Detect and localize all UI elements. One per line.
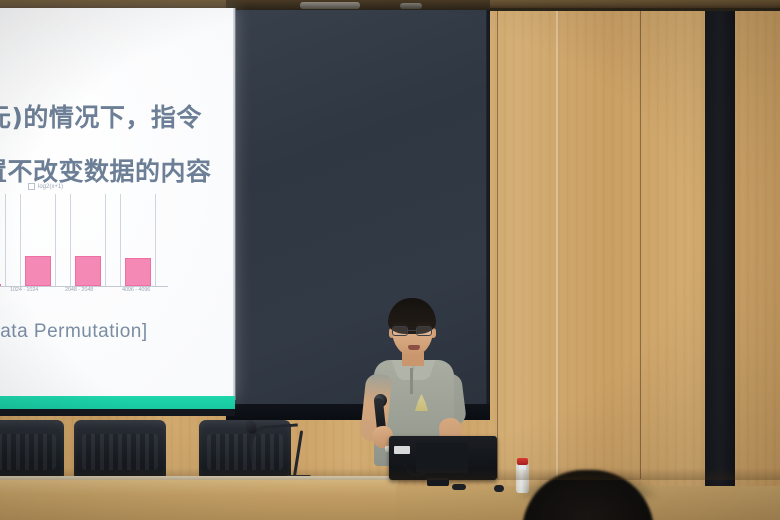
slide-right-edge	[233, 8, 236, 400]
presenter-mouth	[408, 345, 420, 350]
slide-text-line-1: 元)的情况下，指令	[0, 98, 202, 134]
conference-table	[0, 478, 398, 520]
slide-bottom-title: Data Permutation]	[0, 321, 148, 343]
slide-footer-shadow	[0, 409, 235, 416]
legend-label: log2(x+1)	[38, 184, 63, 190]
chart-column	[20, 194, 56, 286]
chart-bar	[125, 258, 151, 286]
wall-base-shadow	[0, 468, 780, 480]
chart-bar	[25, 256, 51, 286]
chart-column	[70, 194, 106, 286]
glasses-icon	[391, 326, 434, 336]
chart-x-tick: 1024 - 1024	[10, 287, 38, 293]
slide-footer-bar	[0, 396, 235, 410]
chart-column	[0, 194, 6, 286]
chart-x-tick: 4096 - 4096	[122, 287, 150, 293]
chart-plot-area	[0, 194, 168, 287]
presenter-shirt-placket	[410, 368, 413, 394]
wall-panel-seam	[556, 9, 558, 479]
chart-legend: log2(x+1)	[28, 183, 63, 190]
monitor-sticker	[394, 446, 410, 454]
desk-object	[494, 485, 504, 492]
water-bottle-cap	[517, 458, 528, 465]
desk-object	[452, 484, 466, 490]
screen-roller-bracket	[400, 3, 422, 9]
chart-x-tick: 2048 - 2048	[65, 287, 93, 293]
chart-column	[120, 194, 156, 286]
chart-x-axis-labels: 512 1024 - 1024 2048 - 2048 4096 - 4096	[0, 287, 180, 299]
screen-roller-housing	[300, 2, 360, 9]
legend-swatch-icon	[28, 183, 35, 190]
slide-bar-chart: log2(x+1) 512 1024 - 1024 2048 - 2048 40…	[0, 183, 190, 303]
presentation-photo-scene: 元)的情况下，指令 置不改变数据的内容 log2(x+1) 512 1024 -…	[0, 0, 780, 520]
wall-panel-seam	[497, 9, 498, 479]
chart-bar	[0, 284, 1, 286]
wall-panel-seam	[640, 9, 641, 479]
dark-pillar-stripe	[705, 9, 735, 489]
chart-bar	[75, 256, 101, 286]
